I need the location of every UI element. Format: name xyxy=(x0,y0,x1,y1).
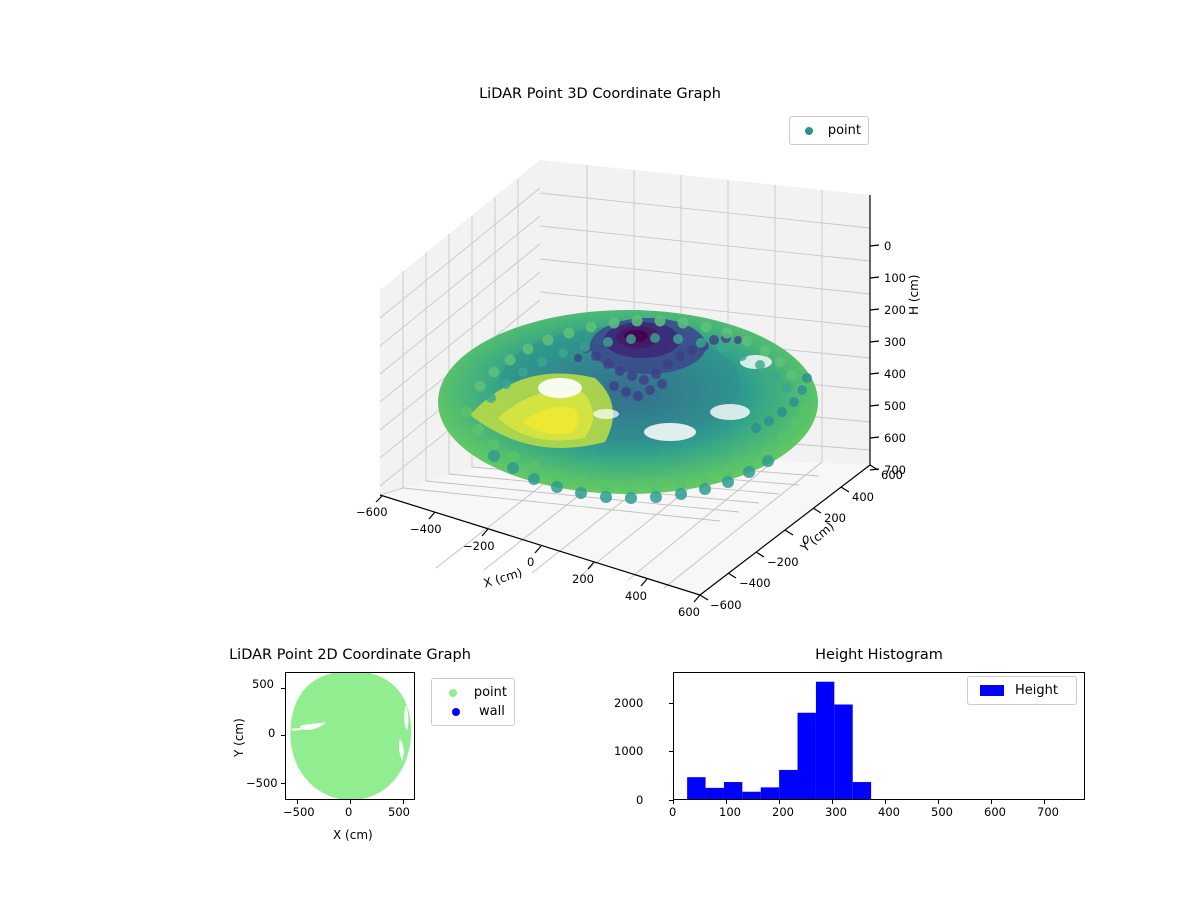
x-tick-label: −600 xyxy=(356,505,388,519)
z-tick-label: 500 xyxy=(884,399,906,413)
x-tick-label: 0 xyxy=(527,555,534,569)
hist-bar xyxy=(706,788,724,799)
z-tick-label: 0 xyxy=(884,239,891,253)
hist-bar xyxy=(687,777,705,799)
point-cloud-2d xyxy=(288,672,414,800)
tick-mark xyxy=(726,800,727,804)
y-axis-label: Y (cm) xyxy=(232,718,246,757)
tick-mark xyxy=(350,800,351,804)
y-tick-label: −500 xyxy=(246,776,278,790)
hist-bar xyxy=(761,787,779,799)
y-tick-label: 2000 xyxy=(614,696,643,710)
chart-hist-title: Height Histogram xyxy=(815,647,943,663)
wall-marker-icon xyxy=(439,708,473,716)
tick-mark xyxy=(297,800,298,804)
tick-mark xyxy=(885,800,886,804)
x-tick-label: 400 xyxy=(625,589,647,603)
x-tick-label: 500 xyxy=(931,805,953,819)
tick-mark xyxy=(991,800,992,804)
y-tick-label: 0 xyxy=(268,726,275,740)
tick-mark xyxy=(832,800,833,804)
legend-hist: Height xyxy=(967,676,1077,705)
hist-bar xyxy=(779,770,797,799)
hist-bar xyxy=(798,713,816,799)
y-tick-label: 0 xyxy=(636,793,643,807)
x-tick-label: 700 xyxy=(1037,805,1059,819)
point-marker-icon xyxy=(439,689,468,697)
z-tick-label: 600 xyxy=(884,431,906,445)
tick-mark xyxy=(669,703,673,704)
x-tick-label: −500 xyxy=(283,805,315,819)
tick-mark xyxy=(779,800,780,804)
legend-label: point xyxy=(468,685,507,700)
z-axis-label: H (cm) xyxy=(907,275,921,316)
z-tick-label: 700 xyxy=(884,463,906,477)
hist-bar xyxy=(742,792,760,799)
point-marker-icon xyxy=(797,127,822,135)
legend-2d: point wall xyxy=(431,678,515,726)
x-tick-label: −200 xyxy=(463,539,495,553)
tick-mark xyxy=(281,783,285,784)
chart-3d-title: LiDAR Point 3D Coordinate Graph xyxy=(479,86,721,102)
legend-item-wall: wall xyxy=(439,702,507,721)
legend-label: point xyxy=(822,123,861,138)
legend-item-point: point xyxy=(439,683,507,702)
tick-mark xyxy=(669,751,673,752)
tick-mark xyxy=(673,800,674,804)
hist-bar xyxy=(834,705,852,800)
tick-mark xyxy=(1044,800,1045,804)
legend-label: wall xyxy=(473,704,505,719)
tick-mark xyxy=(281,688,285,689)
legend-item-height: Height xyxy=(975,681,1069,700)
hist-bar xyxy=(853,782,871,799)
z-tick-label: 400 xyxy=(884,367,906,381)
x-tick-label: 100 xyxy=(719,805,741,819)
y-tick-label: 500 xyxy=(252,677,274,691)
chart-3d-axes[interactable]: −600 −400 −200 0 200 400 600 −600 −400 −… xyxy=(370,150,890,630)
hist-bar xyxy=(724,782,742,799)
x-tick-label: 600 xyxy=(984,805,1006,819)
z-tick-label: 200 xyxy=(884,303,906,317)
legend-label: Height xyxy=(1009,683,1058,698)
tick-mark xyxy=(403,800,404,804)
x-tick-label: 200 xyxy=(572,572,594,586)
tick-mark xyxy=(938,800,939,804)
x-tick-label: 0 xyxy=(345,805,352,819)
x-tick-label: 600 xyxy=(678,605,700,619)
x-tick-label: 0 xyxy=(669,805,676,819)
chart-3d-canvas xyxy=(370,150,890,630)
z-tick-label: 100 xyxy=(884,271,906,285)
chart-2d-title: LiDAR Point 2D Coordinate Graph xyxy=(229,647,471,663)
hist-bar xyxy=(816,682,834,799)
legend-3d: point xyxy=(789,116,869,145)
x-axis-label: X (cm) xyxy=(333,828,373,842)
y-tick-label: 400 xyxy=(852,490,874,504)
y-tick-label: −600 xyxy=(710,598,742,612)
x-tick-label: 300 xyxy=(825,805,847,819)
x-tick-label: −400 xyxy=(410,522,442,536)
x-tick-label: 200 xyxy=(772,805,794,819)
x-tick-label: 500 xyxy=(388,805,410,819)
tick-mark xyxy=(281,735,285,736)
chart-2d-axes[interactable] xyxy=(285,672,415,800)
legend-item-point: point xyxy=(797,121,861,140)
z-tick-label: 300 xyxy=(884,335,906,349)
y-tick-label: −400 xyxy=(739,576,771,590)
x-tick-label: 400 xyxy=(878,805,900,819)
height-patch-icon xyxy=(975,685,1009,696)
y-tick-label: −200 xyxy=(767,555,799,569)
matplotlib-figure: LiDAR Point 3D Coordinate Graph point xyxy=(0,0,1200,900)
y-tick-label: 1000 xyxy=(614,744,643,758)
